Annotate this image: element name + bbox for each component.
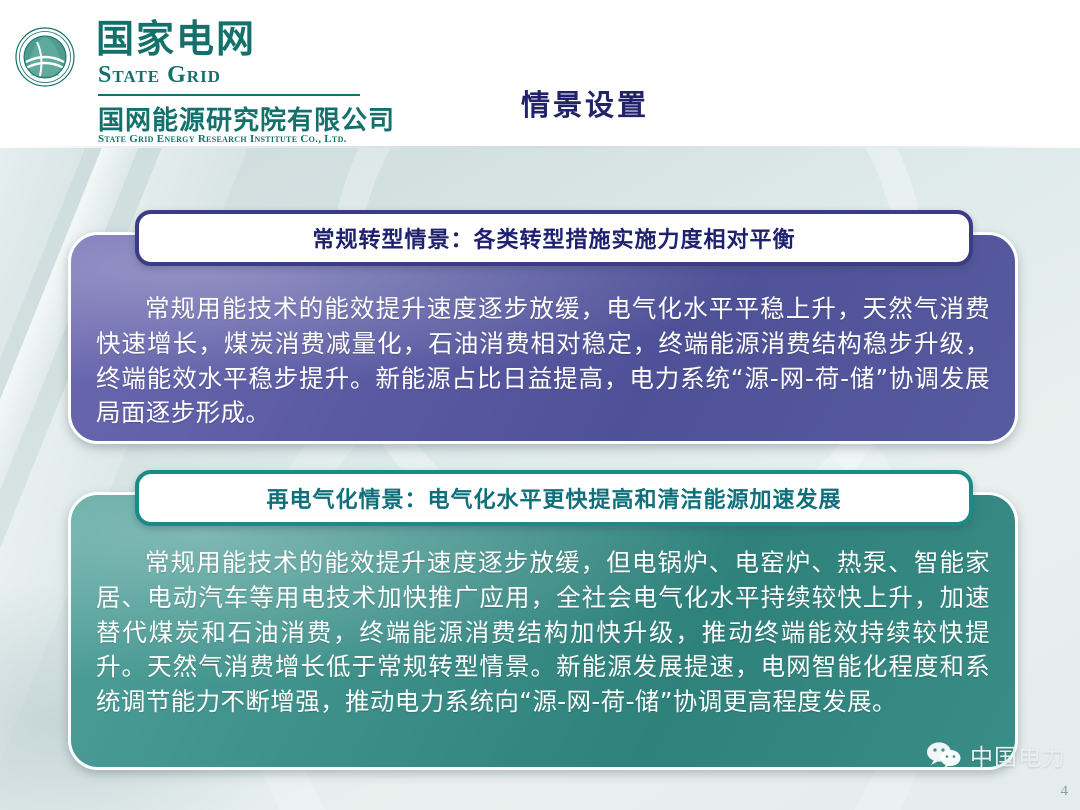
slide-root: 国家电网 State Grid 国网能源研究院有限公司 State Grid E… — [0, 0, 1080, 810]
header-divider — [0, 146, 1080, 148]
watermark-text: 中国电力 — [970, 738, 1066, 772]
scenario-body-text-conventional-transition: 常规用能技术的能效提升速度逐步放缓，电气化水平平稳上升，天然气消费快速增长，煤炭… — [96, 292, 990, 431]
state-grid-globe-emblem — [14, 26, 76, 88]
scenario-body-text-re-electrification: 常规用能技术的能效提升速度逐步放缓，但电锅炉、电窑炉、热泵、智能家居、电动汽车等… — [96, 546, 990, 720]
scenario-heading-text: 再电气化情景：电气化水平更快提高和清洁能源加速发展 — [266, 482, 841, 514]
scenario-heading-box-re-electrification: 再电气化情景：电气化水平更快提高和清洁能源加速发展 — [135, 470, 973, 526]
slide-header: 国家电网 State Grid 国网能源研究院有限公司 State Grid E… — [0, 0, 1080, 148]
wechat-watermark: 中国电力 — [926, 738, 1066, 772]
scenario-heading-box-conventional-transition: 常规转型情景：各类转型措施实施力度相对平衡 — [135, 210, 973, 266]
wechat-icon — [926, 741, 962, 769]
logo-company-cn: 国家电网 — [96, 20, 256, 60]
page-title: 情景设置 — [0, 82, 1080, 124]
page-number: 4 — [1061, 783, 1069, 800]
logo-institute-en: State Grid Energy Research Institute Co.… — [98, 133, 347, 145]
scenario-heading-text: 常规转型情景：各类转型措施实施力度相对平衡 — [312, 222, 795, 254]
